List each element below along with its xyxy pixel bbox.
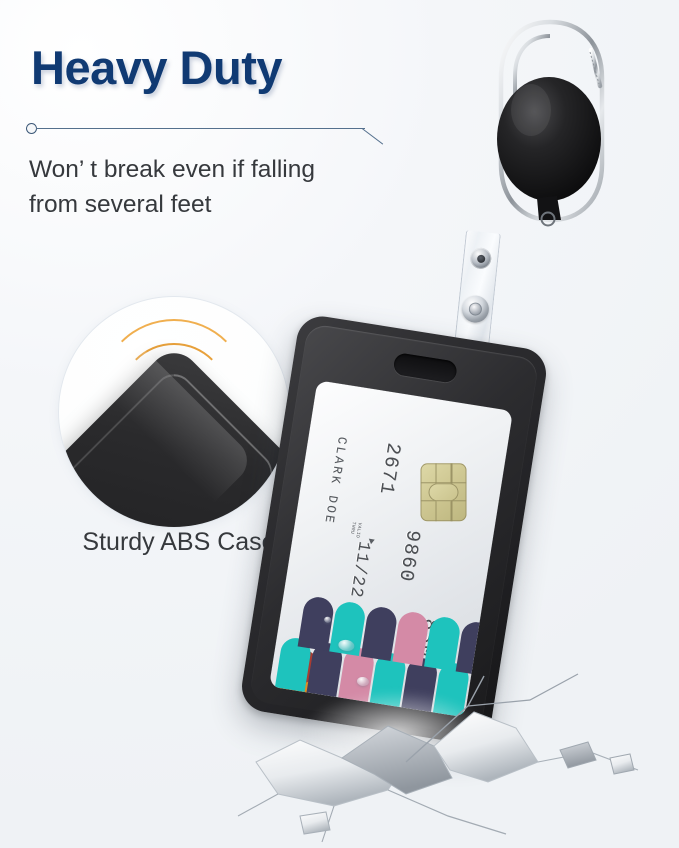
crack-line — [238, 794, 278, 816]
subtitle-line-1: Won’ t break even if falling — [29, 152, 379, 187]
product-image-canvas: Heavy Duty Won’ t break even if falling … — [0, 0, 679, 848]
subtitle-line-2: from several feet — [29, 187, 379, 222]
divider — [26, 119, 389, 145]
subtitle: Won’ t break even if falling from severa… — [29, 152, 379, 222]
reel-strap-exit — [537, 196, 561, 220]
debris-chunk — [610, 754, 634, 774]
divider-hook — [362, 128, 384, 145]
reel-body — [497, 77, 601, 201]
debris-chunk — [300, 812, 330, 834]
divider-line — [36, 128, 365, 129]
emv-chip-icon — [421, 463, 467, 521]
debris-chunk — [560, 742, 596, 768]
cracked-floor — [238, 666, 679, 848]
abs-case-corner — [58, 381, 290, 528]
carabiner-badge-reel — [487, 14, 617, 229]
reel-highlight — [511, 84, 551, 136]
crack-line — [388, 790, 506, 834]
crack-line — [468, 674, 578, 706]
page-title: Heavy Duty — [31, 40, 282, 95]
abs-corner-closeup — [58, 296, 290, 528]
